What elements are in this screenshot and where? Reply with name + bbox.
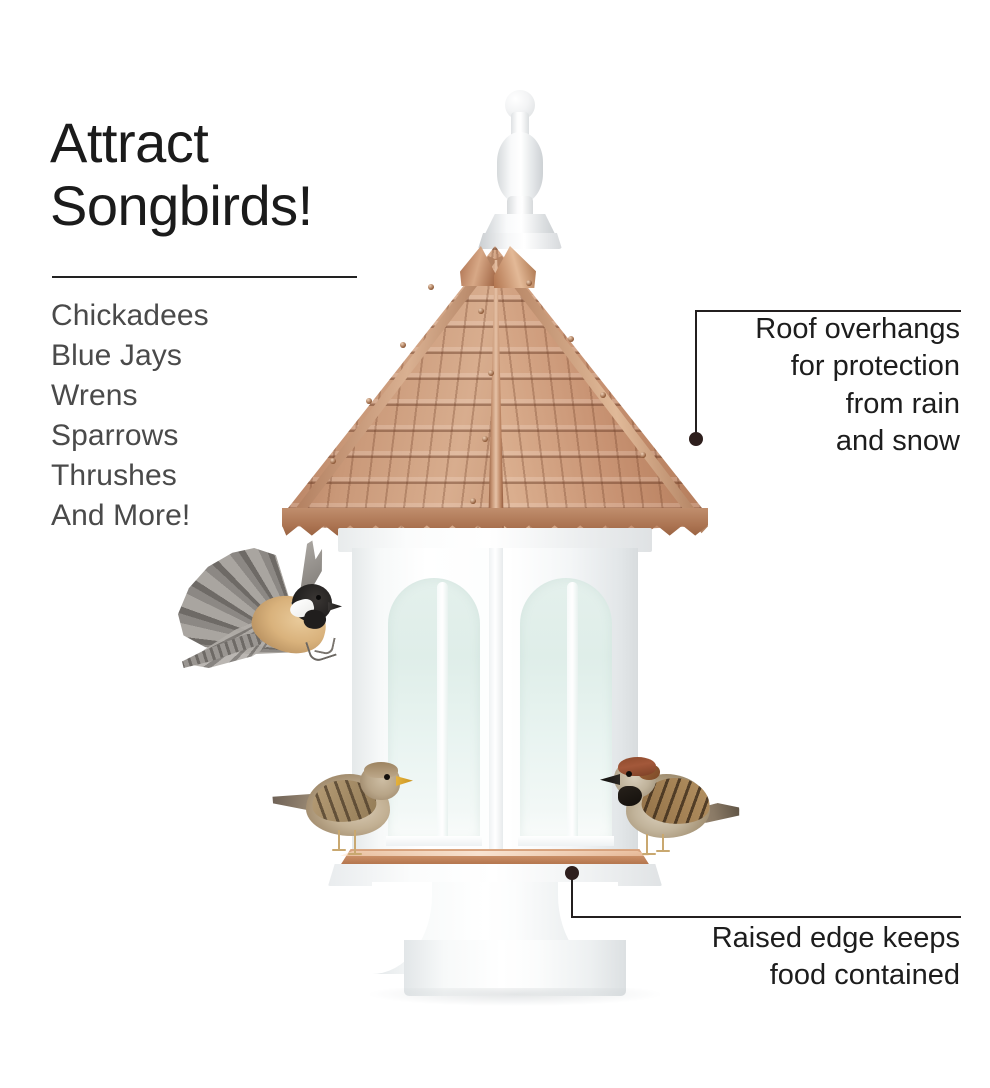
roof-rivet bbox=[600, 392, 606, 398]
callout-line: food contained bbox=[560, 957, 960, 994]
window-mullion-right bbox=[567, 582, 578, 838]
callout-line: Raised edge keeps bbox=[560, 920, 960, 957]
roof-rivet bbox=[482, 436, 488, 442]
sparrow-right-legs bbox=[642, 834, 676, 860]
callout-line: Roof overhangs bbox=[636, 311, 960, 348]
leg bbox=[662, 834, 664, 851]
infographic-canvas: Attract Songbirds! Chickadees Blue Jays … bbox=[0, 0, 990, 1088]
feeder-corner-post bbox=[489, 548, 503, 852]
roof-rivet bbox=[526, 280, 532, 286]
sparrow-right-beak bbox=[600, 774, 620, 785]
flying-chickadee bbox=[178, 540, 348, 680]
sparrow-left-eye bbox=[384, 774, 390, 780]
roof-rivet bbox=[428, 284, 434, 290]
roof-rivet bbox=[330, 458, 336, 464]
chickadee-beak bbox=[328, 602, 342, 611]
sparrow-left-crown bbox=[364, 762, 398, 778]
edge-callout-leader-horizontal bbox=[571, 916, 961, 918]
claw bbox=[656, 850, 670, 852]
roof-rivet bbox=[568, 336, 574, 342]
sparrow-left-beak bbox=[396, 776, 413, 786]
claw bbox=[332, 849, 346, 851]
roof-rivet bbox=[478, 308, 484, 314]
callout-line: from rain bbox=[636, 386, 960, 423]
claw bbox=[348, 853, 362, 855]
window-mullion-left bbox=[437, 582, 448, 838]
perched-sparrow-right bbox=[598, 752, 738, 868]
sparrow-right-cap bbox=[618, 757, 656, 776]
leg bbox=[338, 830, 340, 850]
leg bbox=[354, 830, 356, 854]
roof-rivet bbox=[366, 398, 372, 404]
finial-body bbox=[497, 132, 543, 204]
leg bbox=[646, 834, 648, 854]
perched-sparrow-left bbox=[272, 756, 414, 864]
roof-rivet bbox=[488, 370, 494, 376]
claw bbox=[642, 853, 656, 855]
sparrow-left-legs bbox=[332, 830, 370, 858]
callout-line: and snow bbox=[636, 423, 960, 460]
chickadee-eye bbox=[316, 595, 321, 600]
sparrow-right-eye bbox=[626, 771, 632, 777]
edge-callout-text: Raised edge keeps food contained bbox=[560, 920, 960, 995]
callout-line: for protection bbox=[636, 348, 960, 385]
roof-callout-text: Roof overhangs for protection from rain … bbox=[636, 311, 960, 461]
roof-rivet bbox=[470, 498, 476, 504]
edge-callout-dot bbox=[565, 866, 579, 880]
roof-rivet bbox=[400, 342, 406, 348]
